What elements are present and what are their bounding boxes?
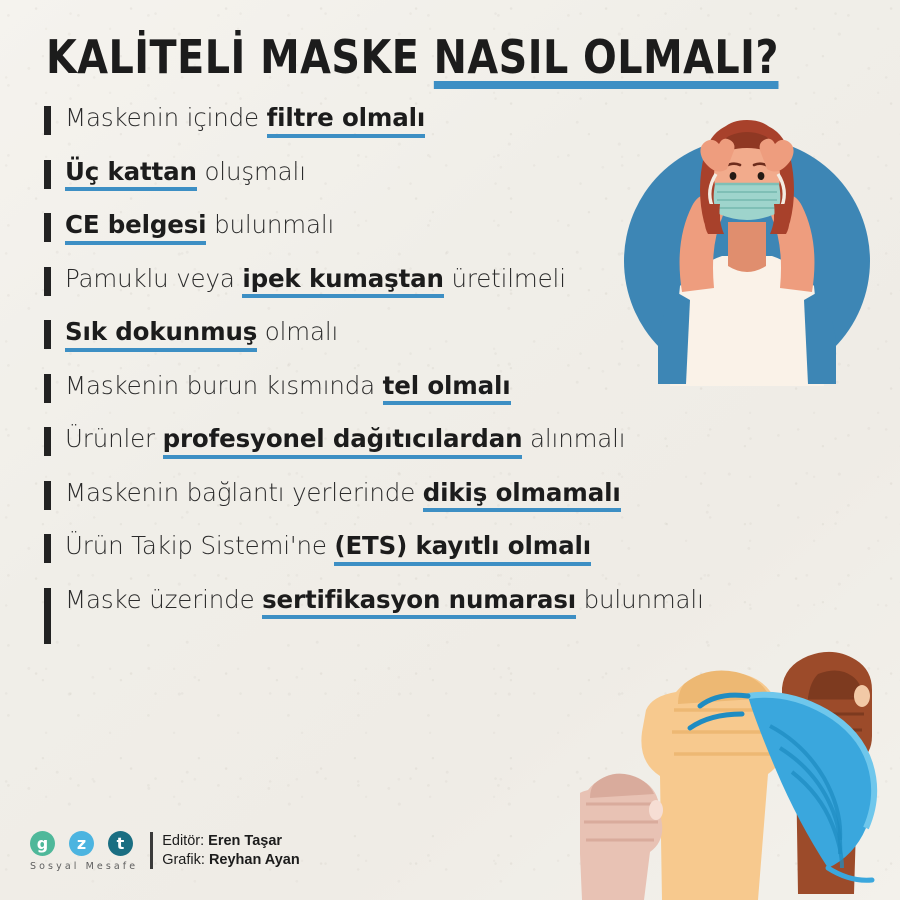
credit-graphic-label: Grafik: — [162, 852, 205, 868]
infographic-poster: KALİTELİ MASKE NASIL OLMALI? Maskenin iç… — [0, 0, 900, 900]
credit-editor-value: Eren Taşar — [208, 833, 282, 849]
emphasis-text: filtre olmalı — [267, 102, 426, 135]
emphasis-text: ipek kumaştan — [242, 263, 444, 296]
bullet-marker-icon — [44, 374, 51, 403]
bullet-marker-icon — [44, 213, 51, 242]
page-title-highlight: NASIL OLMALI? — [434, 34, 779, 80]
page-title-plain: KALİTELİ MASKE — [46, 30, 434, 84]
bullet-marker-icon — [44, 588, 51, 644]
emphasis-text: Sık dokunmuş — [65, 316, 257, 349]
emphasis-text: dikiş olmamalı — [423, 477, 621, 510]
brand-tagline: Sosyal Mesafe — [30, 861, 138, 872]
list-item-text: Maske üzerinde sertifikasyon numarası bu… — [65, 584, 704, 617]
page-title: KALİTELİ MASKE NASIL OLMALI? — [46, 34, 846, 80]
list-item-text: Sık dokunmuş olmalı — [65, 316, 338, 349]
emphasis-text: CE belgesi — [65, 209, 206, 242]
three-raised-fists-with-mask-illustration — [580, 640, 900, 900]
emphasis-text: Üç kattan — [65, 156, 197, 189]
logo-circle-t: t — [108, 831, 133, 856]
logo-circles: g z t — [30, 831, 138, 856]
footer-divider — [150, 832, 153, 869]
bullet-marker-icon — [44, 320, 51, 349]
credit-graphic-value: Reyhan Ayan — [209, 852, 300, 868]
bullet-marker-icon — [44, 106, 51, 135]
list-item: Maskenin içinde filtre olmalı — [44, 102, 744, 135]
logo-circle-g: g — [30, 831, 55, 856]
bullet-marker-icon — [44, 427, 51, 456]
credit-graphic: Grafik: Reyhan Ayan — [162, 851, 300, 870]
list-item: CE belgesi bulunmalı — [44, 209, 744, 242]
emphasis-text: sertifikasyon numarası — [262, 584, 576, 617]
logo-circle-z: z — [69, 831, 94, 856]
credits: Editör: Eren Taşar Grafik: Reyhan Ayan — [162, 831, 300, 871]
list-item-text: CE belgesi bulunmalı — [65, 209, 334, 242]
list-item: Maskenin bağlantı yerlerinde dikiş olmam… — [44, 477, 744, 510]
bullet-marker-icon — [44, 267, 51, 296]
list-item: Pamuklu veya ipek kumaştan üretilmeli — [44, 263, 744, 296]
footer: g z t Sosyal Mesafe Editör: Eren Taşar G… — [30, 831, 300, 872]
list-item: Maske üzerinde sertifikasyon numarası bu… — [44, 584, 744, 644]
brand-logo: g z t Sosyal Mesafe — [30, 831, 138, 872]
list-item: Maskenin burun kısmında tel olmalı — [44, 370, 744, 403]
bullet-marker-icon — [44, 481, 51, 510]
list-item: Sık dokunmuş olmalı — [44, 316, 744, 349]
emphasis-text: tel olmalı — [383, 370, 511, 403]
list-item-text: Pamuklu veya ipek kumaştan üretilmeli — [65, 263, 566, 296]
bullet-marker-icon — [44, 534, 51, 563]
list-item-text: Üç kattan oluşmalı — [65, 156, 306, 189]
bullet-marker-icon — [44, 160, 51, 189]
list-item-text: Maskenin bağlantı yerlerinde dikiş olmam… — [65, 477, 621, 510]
list-item-text: Maskenin burun kısmında tel olmalı — [65, 370, 511, 403]
credit-editor-label: Editör: — [162, 833, 204, 849]
list-item-text: Maskenin içinde filtre olmalı — [65, 102, 425, 135]
list-item: Üç kattan oluşmalı — [44, 156, 744, 189]
list-item-text: Ürünler profesyonel dağıtıcılardan alınm… — [65, 423, 625, 456]
emphasis-text: (ETS) kayıtlı olmalı — [334, 530, 591, 563]
list-item: Ürünler profesyonel dağıtıcılardan alınm… — [44, 423, 744, 456]
checklist: Maskenin içinde filtre olmalı Üç kattan … — [44, 102, 744, 664]
list-item-text: Ürün Takip Sistemi'ne (ETS) kayıtlı olma… — [65, 530, 591, 563]
credit-editor: Editör: Eren Taşar — [162, 832, 300, 851]
list-item: Ürün Takip Sistemi'ne (ETS) kayıtlı olma… — [44, 530, 744, 563]
emphasis-text: profesyonel dağıtıcılardan — [163, 423, 523, 456]
